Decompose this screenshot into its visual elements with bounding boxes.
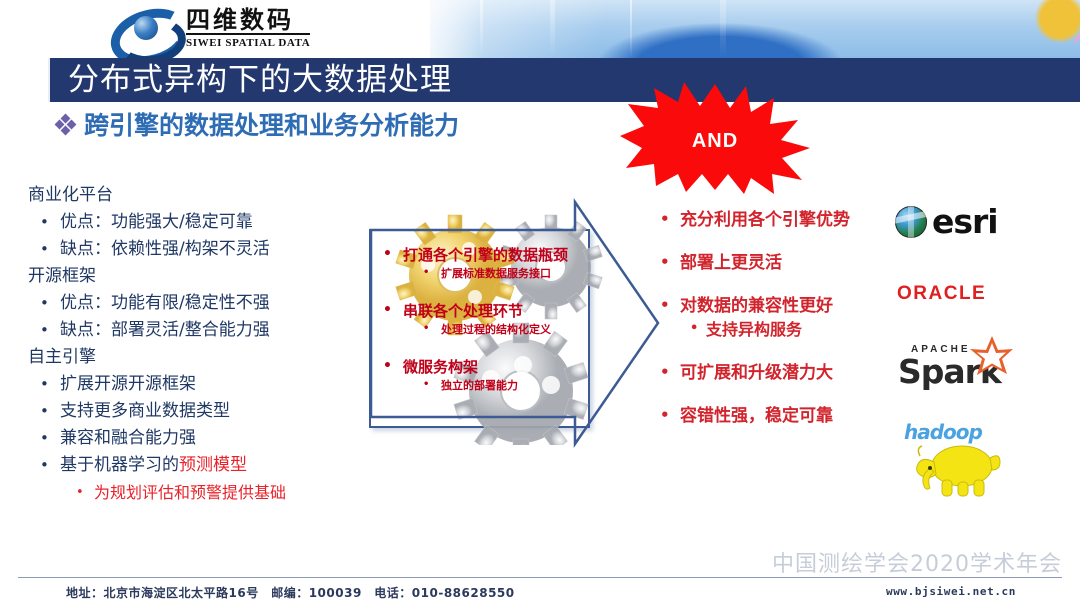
left-group-heading: 商业化平台 xyxy=(28,182,368,209)
slide-canvas: 四维数码 SIWEI SPATIAL DATA 分布式异构下的大数据处理 跨引擎… xyxy=(0,0,1080,607)
left-content-column: 商业化平台 优点：功能强大/稳定可靠 缺点：依赖性强/构架不灵活 开源框架 优点… xyxy=(28,182,368,506)
light-streak xyxy=(630,0,632,58)
right-list-item: 可扩展和升级潜力大 xyxy=(650,361,900,385)
left-list-item: 优点：功能有限/稳定性不强 xyxy=(28,290,368,317)
center-box-text: 打通各个引擎的数据瓶颈 扩展标准数据服务接口 串联各个处理环节 处理过程的结构化… xyxy=(375,245,625,395)
left-group-heading: 自主引擎 xyxy=(28,344,368,371)
left-list-item-highlight: 基于机器学习的预测模型 xyxy=(28,452,368,479)
center-item-title: 打通各个引擎的数据瓶颈 xyxy=(375,245,625,265)
center-item-title: 串联各个处理环节 xyxy=(375,301,625,321)
right-list-item: 部署上更灵活 xyxy=(650,251,900,275)
and-starburst: AND xyxy=(620,82,810,194)
right-list-item: 充分利用各个引擎优势 xyxy=(650,208,900,232)
orbit-ring xyxy=(1051,0,1080,58)
and-label: AND xyxy=(620,82,810,194)
left-list-item: 兼容和融合能力强 xyxy=(28,425,368,452)
left-list-item: 缺点：部署灵活/整合能力强 xyxy=(28,317,368,344)
right-sub-item: 支持异构服务 xyxy=(650,318,900,342)
oracle-logo: ORACLE xyxy=(897,283,986,305)
footer-website: www.bjsiwei.net.cn xyxy=(886,585,1016,598)
right-list-item: 对数据的兼容性更好 xyxy=(650,294,900,318)
banner-background-image xyxy=(420,0,1080,58)
center-item-sub: 独立的部署能力 xyxy=(375,377,625,395)
hadoop-logo: hadoop xyxy=(900,420,1010,500)
center-item-sub: 扩展标准数据服务接口 xyxy=(375,265,625,283)
right-list-item: 容错性强，稳定可靠 xyxy=(650,404,900,428)
light-streak xyxy=(480,0,483,58)
left-list-item: 扩展开源开源框架 xyxy=(28,371,368,398)
footer-address: 地址：北京市海淀区北太平路16号 邮编：100039 电话：010-886285… xyxy=(66,584,515,601)
left-item-prefix: 基于机器学习的 xyxy=(60,455,179,475)
left-list-item: 优点：功能强大/稳定可靠 xyxy=(28,209,368,236)
logo-chinese-name: 四维数码 xyxy=(186,8,310,35)
footer-divider xyxy=(18,577,1062,578)
title-bar-notch xyxy=(0,58,50,102)
left-list-item: 支持更多商业数据类型 xyxy=(28,398,368,425)
subtitle-text: 跨引擎的数据处理和业务分析能力 xyxy=(84,106,459,142)
left-sub-item: 为规划评估和预警提供基础 xyxy=(28,479,368,506)
hadoop-elephant-icon xyxy=(906,440,1004,503)
light-streak xyxy=(720,0,726,58)
logo-english-name: SIWEI SPATIAL DATA xyxy=(186,38,310,49)
spark-logo: APACHE Spark xyxy=(898,338,1023,400)
conference-watermark: 中国测绘学会2020学术年会 xyxy=(772,546,1062,578)
company-logo: 四维数码 SIWEI SPATIAL DATA xyxy=(110,4,310,52)
light-streak xyxy=(550,0,555,58)
right-content-column: 充分利用各个引擎优势 部署上更灵活 对数据的兼容性更好 支持异构服务 可扩展和升… xyxy=(650,208,900,428)
diamond-bullet-icon xyxy=(56,115,75,134)
left-item-highlight: 预测模型 xyxy=(179,455,247,475)
subtitle-row: 跨引擎的数据处理和业务分析能力 xyxy=(56,106,459,142)
spark-star-icon xyxy=(970,336,1014,383)
banner-gradient-fade xyxy=(410,0,480,58)
center-item-sub: 处理过程的结构化定义 xyxy=(375,321,625,339)
left-list-item: 缺点：依赖性强/构架不灵活 xyxy=(28,236,368,263)
siwei-eye-icon xyxy=(110,6,176,50)
left-group-heading: 开源框架 xyxy=(28,263,368,290)
center-item-title: 微服务构架 xyxy=(375,357,625,377)
esri-wordmark: esri xyxy=(932,202,998,241)
esri-logo: esri xyxy=(895,202,998,241)
esri-globe-icon xyxy=(895,206,927,238)
header-banner: 四维数码 SIWEI SPATIAL DATA xyxy=(0,0,1080,58)
